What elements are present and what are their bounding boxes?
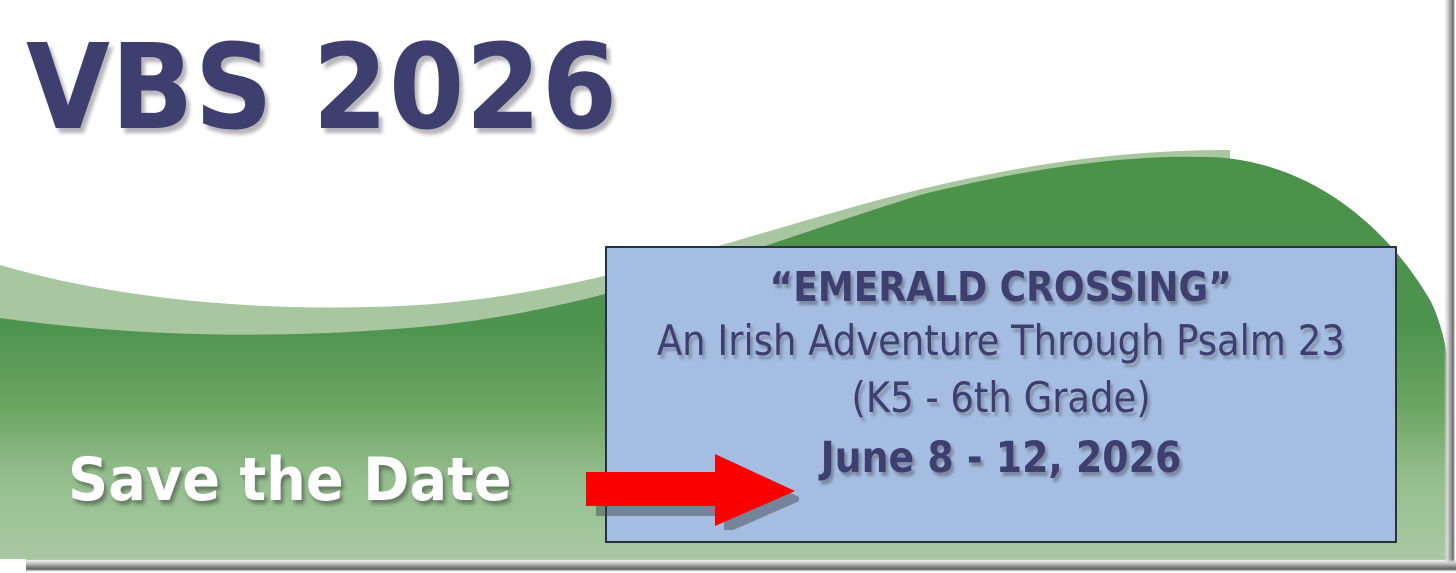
event-subtitle: An Irish Adventure Through Psalm 23 bbox=[657, 313, 1345, 370]
save-the-date-text: Save the Date bbox=[68, 450, 512, 510]
vbs-save-the-date-flyer: VBS 2026 Save the Date “EMERALD CROSSING… bbox=[0, 0, 1456, 573]
event-dates: June 8 - 12, 2026 bbox=[821, 431, 1182, 487]
event-theme-title: “EMERALD CROSSING” bbox=[770, 262, 1232, 313]
page-title: VBS 2026 bbox=[26, 28, 618, 146]
event-grade-range: (K5 - 6th Grade) bbox=[851, 370, 1150, 427]
right-arrow-icon bbox=[583, 452, 799, 530]
